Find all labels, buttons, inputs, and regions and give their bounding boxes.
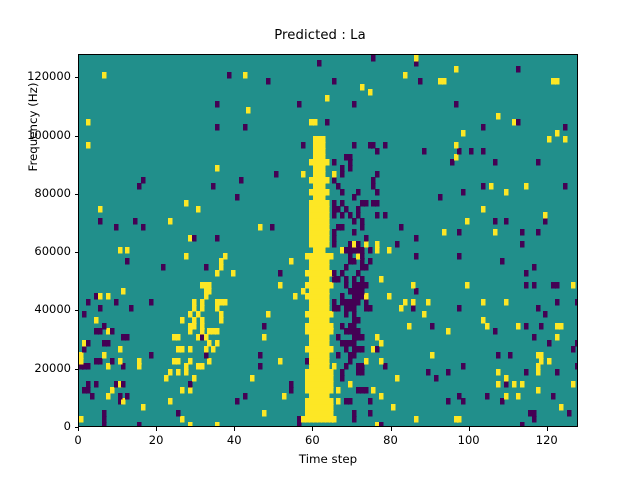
y-tick-mark [75,77,79,78]
y-tick-mark [75,252,79,253]
x-tick-mark [78,427,79,431]
x-tick-label: 20 [149,433,164,447]
x-tick-label: 60 [305,433,320,447]
heatmap-image [79,55,578,427]
x-tick-label: 100 [458,433,480,447]
x-tick-label: 40 [227,433,242,447]
x-tick-mark [156,427,157,431]
x-tick-label: 80 [383,433,398,447]
y-tick-mark [75,136,79,137]
x-tick-mark [234,427,235,431]
x-tick-mark [312,427,313,431]
x-tick-label: 120 [536,433,558,447]
x-axis-label: Time step [78,452,578,466]
chart-title: Predicted : La [0,28,640,43]
y-axis-label: Frequency (Hz) [26,7,40,247]
y-tick-mark [75,427,79,428]
x-tick-label: 0 [74,433,81,447]
x-tick-mark [391,427,392,431]
figure-canvas: Predicted : La 0204060801001200200004000… [0,0,640,480]
x-tick-mark [469,427,470,431]
y-tick-mark [75,310,79,311]
y-tick-mark [75,194,79,195]
x-tick-mark [547,427,548,431]
heatmap-axes[interactable] [78,54,578,427]
y-tick-mark [75,369,79,370]
